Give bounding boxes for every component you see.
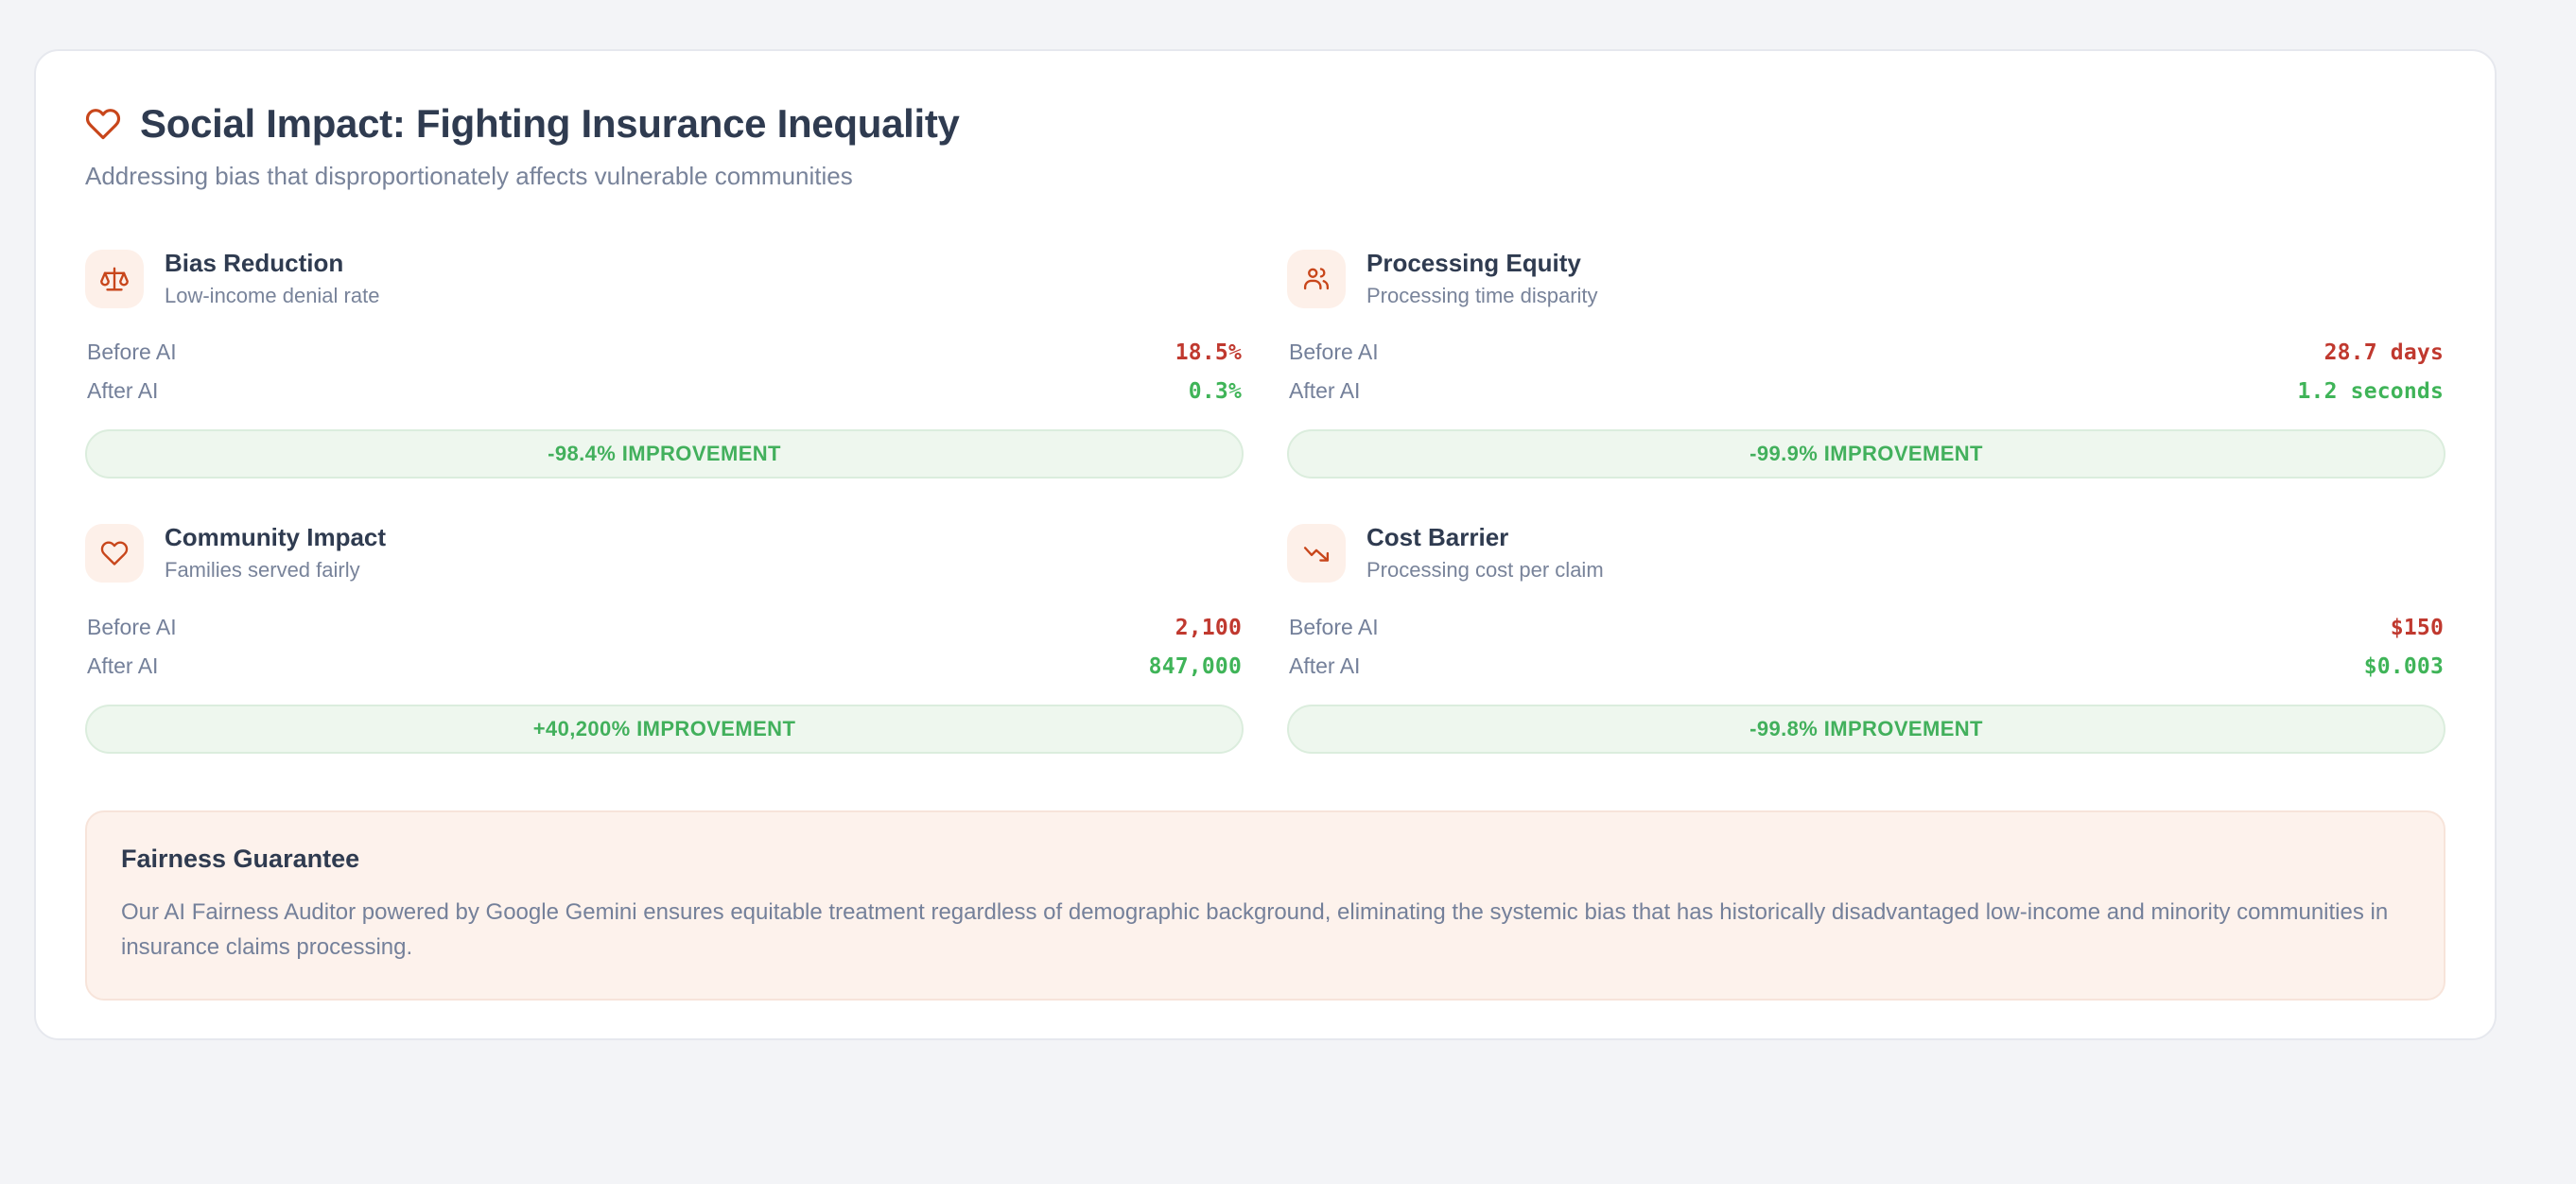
metric-card-cost-barrier: Cost Barrier Processing cost per claim B… bbox=[1287, 503, 2445, 777]
metric-card-bias-reduction: Bias Reduction Low-income denial rate Be… bbox=[85, 229, 1244, 503]
scales-balance-icon bbox=[85, 250, 144, 308]
metric-header: Cost Barrier Processing cost per claim bbox=[1287, 524, 2445, 583]
title-row: Social Impact: Fighting Insurance Inequa… bbox=[85, 102, 2445, 146]
improvement-badge: +40,200% IMPROVEMENT bbox=[85, 705, 1244, 754]
fairness-guarantee-panel: Fairness Guarantee Our AI Fairness Audit… bbox=[85, 810, 2445, 1001]
after-value: 847,000 bbox=[1149, 654, 1242, 679]
before-label: Before AI bbox=[1289, 615, 1379, 640]
metric-sublabel: Processing time disparity bbox=[1366, 284, 1598, 308]
panel-header: Social Impact: Fighting Insurance Inequa… bbox=[85, 102, 2445, 193]
page-subtitle: Addressing bias that disproportionately … bbox=[85, 161, 2445, 193]
after-value: 0.3% bbox=[1189, 379, 1242, 404]
metric-row-before: Before AI 18.5% bbox=[85, 333, 1244, 372]
metric-sublabel: Low-income denial rate bbox=[165, 284, 379, 308]
metric-titles: Community Impact Families served fairly bbox=[165, 524, 386, 583]
metric-header: Community Impact Families served fairly bbox=[85, 524, 1244, 583]
after-value: 1.2 seconds bbox=[2297, 379, 2444, 404]
metric-titles: Bias Reduction Low-income denial rate bbox=[165, 250, 379, 308]
metric-label: Bias Reduction bbox=[165, 250, 379, 278]
metric-label: Cost Barrier bbox=[1366, 524, 1604, 552]
users-icon bbox=[1287, 250, 1346, 308]
metric-header: Bias Reduction Low-income denial rate bbox=[85, 250, 1244, 308]
fairness-text: Our AI Fairness Auditor powered by Googl… bbox=[121, 895, 2410, 965]
metric-header: Processing Equity Processing time dispar… bbox=[1287, 250, 2445, 308]
page-title: Social Impact: Fighting Insurance Inequa… bbox=[140, 102, 960, 146]
metric-row-after: After AI 0.3% bbox=[85, 372, 1244, 410]
metric-titles: Cost Barrier Processing cost per claim bbox=[1366, 524, 1604, 583]
metric-label: Processing Equity bbox=[1366, 250, 1598, 278]
after-label: After AI bbox=[1289, 378, 1360, 404]
metric-label: Community Impact bbox=[165, 524, 386, 552]
metric-titles: Processing Equity Processing time dispar… bbox=[1366, 250, 1598, 308]
metric-sublabel: Processing cost per claim bbox=[1366, 558, 1604, 583]
fairness-title: Fairness Guarantee bbox=[121, 844, 2410, 874]
after-label: After AI bbox=[87, 378, 158, 404]
metric-row-before: Before AI $150 bbox=[1287, 608, 2445, 647]
after-label: After AI bbox=[87, 653, 158, 679]
improvement-badge: -99.8% IMPROVEMENT bbox=[1287, 705, 2445, 754]
metric-row-after: After AI $0.003 bbox=[1287, 647, 2445, 686]
improvement-badge: -99.9% IMPROVEMENT bbox=[1287, 429, 2445, 479]
metric-row-before: Before AI 28.7 days bbox=[1287, 333, 2445, 372]
trending-down-icon bbox=[1287, 524, 1346, 583]
metric-row-before: Before AI 2,100 bbox=[85, 608, 1244, 647]
metrics-grid: Bias Reduction Low-income denial rate Be… bbox=[85, 229, 2445, 778]
metric-card-community-impact: Community Impact Families served fairly … bbox=[85, 503, 1244, 777]
before-value: 2,100 bbox=[1175, 616, 1242, 640]
metric-row-after: After AI 847,000 bbox=[85, 647, 1244, 686]
improvement-badge: -98.4% IMPROVEMENT bbox=[85, 429, 1244, 479]
before-label: Before AI bbox=[87, 340, 177, 365]
before-label: Before AI bbox=[1289, 340, 1379, 365]
before-value: 18.5% bbox=[1175, 340, 1242, 365]
after-value: $0.003 bbox=[2364, 654, 2444, 679]
metric-sublabel: Families served fairly bbox=[165, 558, 386, 583]
heart-icon bbox=[85, 524, 144, 583]
metric-row-after: After AI 1.2 seconds bbox=[1287, 372, 2445, 410]
metric-card-processing-equity: Processing Equity Processing time dispar… bbox=[1287, 229, 2445, 503]
social-impact-panel: Social Impact: Fighting Insurance Inequa… bbox=[34, 49, 2497, 1040]
after-label: After AI bbox=[1289, 653, 1360, 679]
before-value: $150 bbox=[2391, 616, 2444, 640]
before-value: 28.7 days bbox=[2324, 340, 2444, 365]
before-label: Before AI bbox=[87, 615, 177, 640]
page-root: Social Impact: Fighting Insurance Inequa… bbox=[0, 0, 2576, 1184]
heart-icon bbox=[85, 106, 121, 142]
